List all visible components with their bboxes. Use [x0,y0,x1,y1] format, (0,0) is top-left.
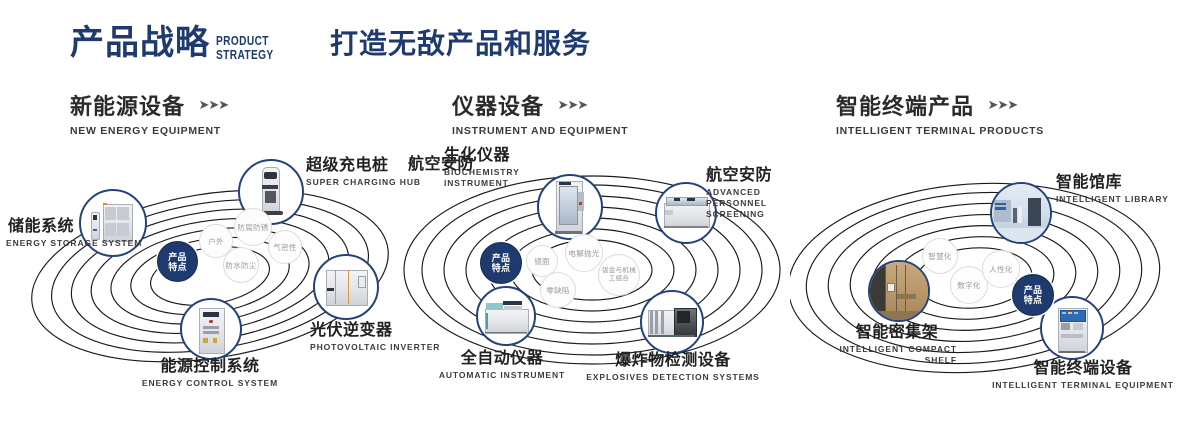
chevron-right-icon: ➤➤➤ [987,97,1017,113]
label-cn: 智能馆库 [1056,174,1169,192]
section-heading-instrument: 仪器设备 ➤➤➤ INSTRUMENT AND EQUIPMENT [452,96,628,137]
center-badge-line1: 产品 [168,252,187,262]
center-badge-product-features: 产品 特点 [480,242,522,284]
page-title-english-line1: PRODUCT [216,34,274,48]
compact-shelf-icon [870,262,928,320]
node-intelligent-compact-shelf[interactable] [868,260,930,322]
label-cn: 储能系统 [6,218,74,236]
section-heading-intelligent-terminal: 智能终端产品 ➤➤➤ INTELLIGENT TERMINAL PRODUCTS [836,96,1044,137]
chevron-right-icon: ➤➤➤ [557,97,587,113]
page-header: 产品战略 PRODUCT STRATEGY 打造无敌产品和服务 [0,0,1200,86]
center-badge-line1: 产品 [492,253,511,263]
center-badge-product-features: 产品 特点 [157,241,198,282]
label-intelligent-terminal-equipment: 智能终端设备 INTELLIGENT TERMINAL EQUIPMENT [978,360,1188,391]
center-badge-product-features: 产品 特点 [1012,274,1054,316]
page-slogan: 打造无敌产品和服务 [330,30,591,58]
label-en: ADVANCED PERSONNEL SCREENING [706,187,798,220]
feature-bubble-3: 防水防尘 [223,247,259,283]
chevron-right-icon: ➤➤➤ [198,97,228,113]
center-badge-line2: 特点 [1024,295,1043,305]
label-en: AUTOMATIC INSTRUMENT [394,370,610,381]
label-en: INTELLIGENT TERMINAL EQUIPMENT [978,380,1188,391]
label-cn: 航空安防 [706,167,798,185]
label-energy-storage-system: 储能系统 ENERGY STORAGE SYSTEM [6,218,74,249]
label-intelligent-compact-shelf: 智能密集架 INTELLIGENT COMPACT SHELF [802,324,992,366]
label-en: ENERGY CONTROL SYSTEM [90,378,330,389]
label-en: INTELLIGENT LIBRARY [1056,194,1169,205]
label-aviation-security-overlay: 航空安防 [408,156,474,174]
diagram-new-energy: 储能系统 ENERGY STORAGE SYSTEM 超级充电桩 SUPER C… [10,150,410,400]
page-title-english: PRODUCT STRATEGY [216,34,274,62]
label-en: ENERGY STORAGE SYSTEM [6,238,74,249]
label-cn: 航空安防 [408,156,474,174]
label-en: INTELLIGENT COMPACT SHELF [837,344,957,366]
node-energy-control-system[interactable] [180,298,242,360]
node-biochemistry-instrument[interactable] [537,174,603,240]
section-heading-new-energy: 新能源设备 ➤➤➤ NEW ENERGY EQUIPMENT [70,96,228,137]
label-cn: 全自动仪器 [394,350,610,368]
label-cn: 能源控制系统 [90,358,330,376]
label-advanced-personnel-screening: 航空安防 ADVANCED PERSONNEL SCREENING [706,167,798,220]
automatic-instrument-icon [478,288,534,344]
feature-bubble-3: 人性化 [982,250,1020,288]
feature-bubble-2: 防腐防锈 [234,208,272,246]
feature-bubble-2: 电解抛光 [565,234,603,272]
section-heading-cn: 智能终端产品 [836,96,974,118]
label-cn: 智能终端设备 [978,360,1188,378]
node-photovoltaic-inverter[interactable] [313,254,379,320]
label-automatic-instrument: 全自动仪器 AUTOMATIC INSTRUMENT [394,350,610,381]
self-service-kiosk-icon [1042,298,1102,358]
feature-bubble-4: 气密性 [268,230,302,264]
feature-bubble-3: 零缺陷 [540,272,576,308]
center-badge-line1: 产品 [1024,285,1043,295]
diagram-intelligent-terminal: 智能馆库 INTELLIGENT LIBRARY 智能密集架 INTELLIGE… [790,150,1190,400]
library-room-icon [992,184,1050,242]
label-cn: 智能密集架 [802,324,992,342]
diagram-instrument: 生化仪器 BIOCHEMISTRY INSTRUMENT 航空安防 航空安防 A… [400,150,800,400]
page-title: 产品战略 [70,26,210,60]
label-intelligent-library: 智能馆库 INTELLIGENT LIBRARY [1056,174,1169,205]
biochemistry-analyzer-icon [539,176,601,238]
section-heading-en: INSTRUMENT AND EQUIPMENT [452,125,628,137]
center-badge-line2: 特点 [168,262,187,272]
node-automatic-instrument[interactable] [476,286,536,346]
feature-bubble-1: 智慧化 [922,238,958,274]
node-intelligent-library[interactable] [990,182,1052,244]
label-energy-control-system: 能源控制系统 ENERGY CONTROL SYSTEM [90,358,330,389]
inverter-cabinet-icon [315,256,377,318]
control-cabinet-icon [182,300,240,358]
feature-bubble-4: 钣金与机械工组合 [598,254,640,296]
explosives-detector-icon [642,292,702,352]
page-title-english-line2: STRATEGY [216,48,274,62]
node-explosives-detection-systems[interactable] [640,290,704,354]
section-heading-cn: 仪器设备 [452,96,544,118]
section-heading-cn: 新能源设备 [70,96,185,118]
center-badge-line2: 特点 [492,263,511,273]
section-heading-en: INTELLIGENT TERMINAL PRODUCTS [836,125,1044,137]
section-heading-en: NEW ENERGY EQUIPMENT [70,125,228,137]
